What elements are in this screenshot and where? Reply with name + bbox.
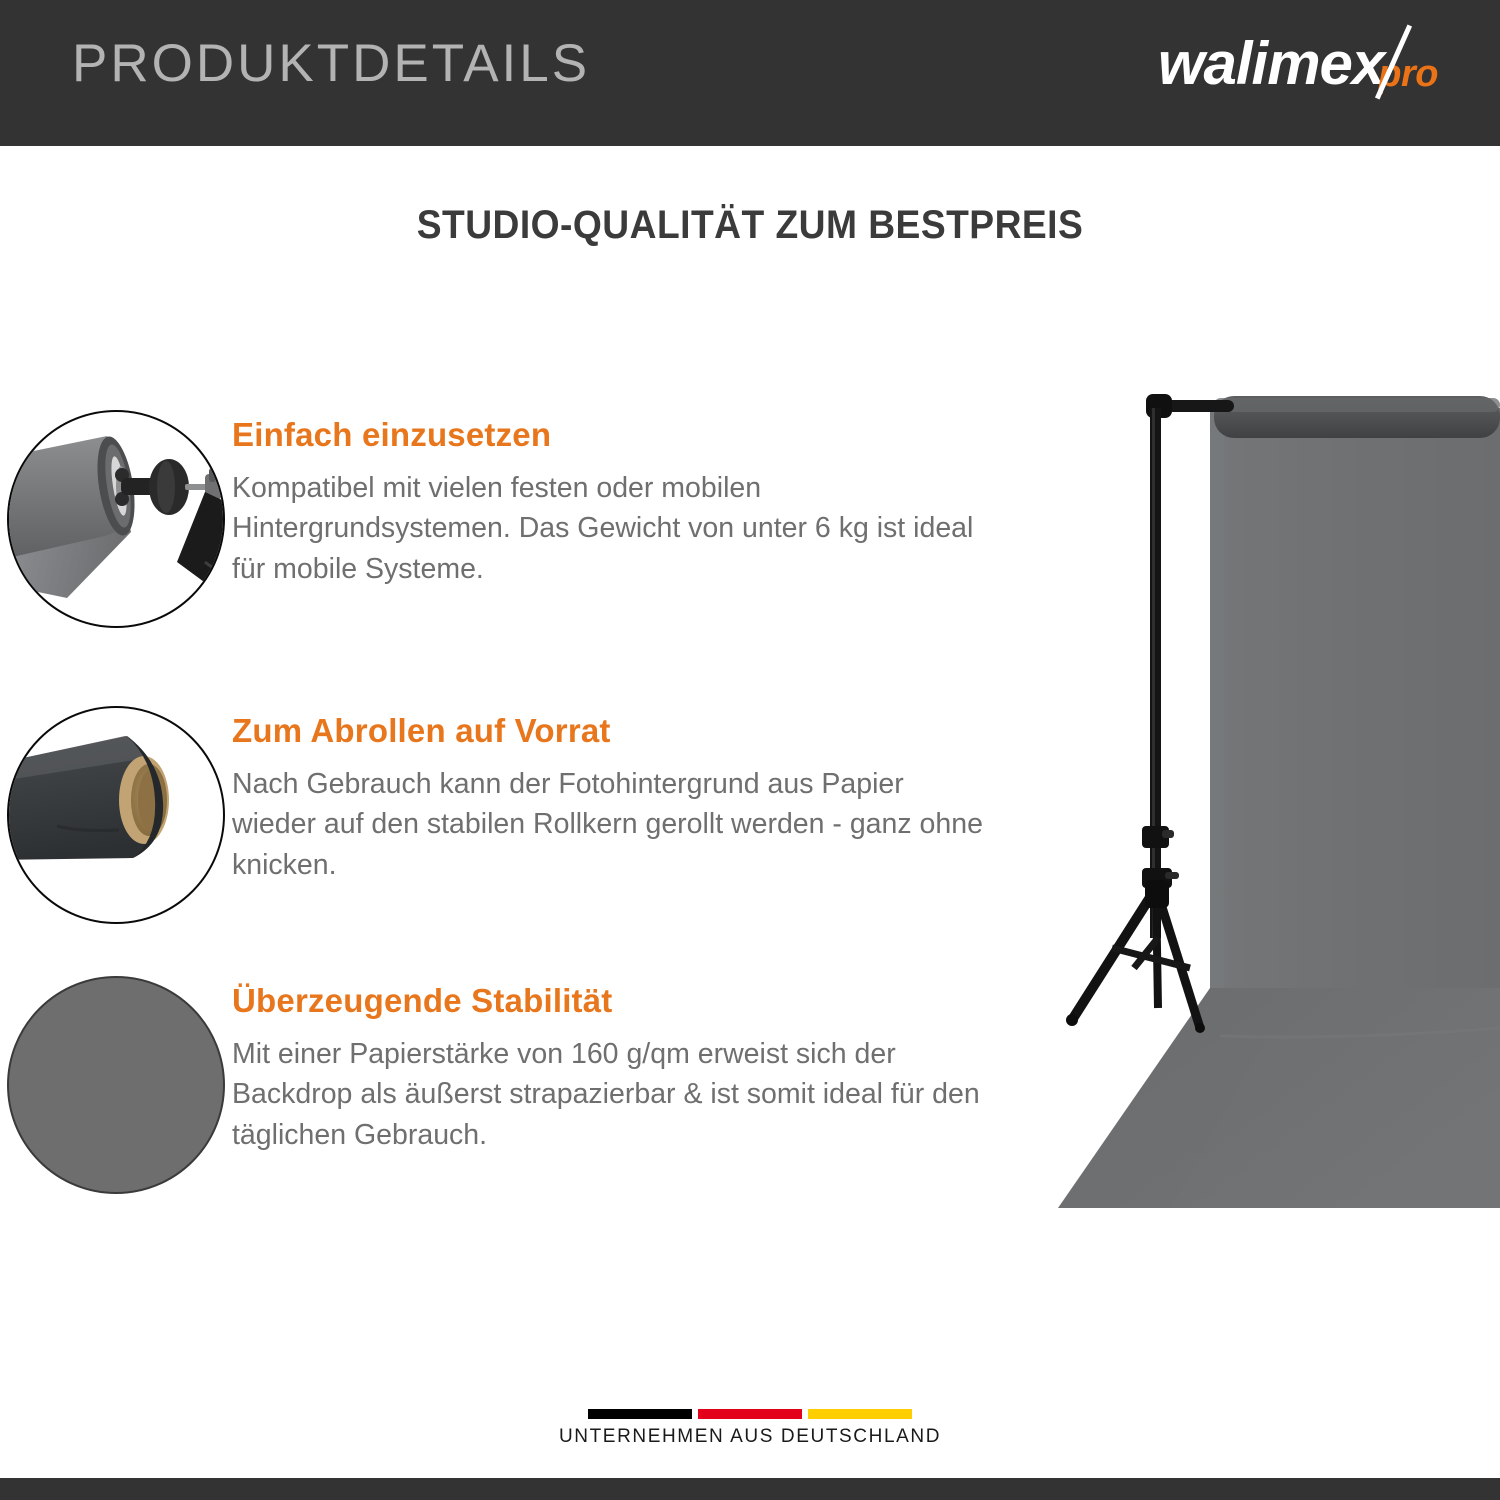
feature-text: Überzeugende Stabilität Mit einer Papier… xyxy=(232,976,992,1155)
feature-list: Einfach einzusetzen Kompatibel mit viele… xyxy=(0,400,1080,1194)
feature-icon-wrap xyxy=(0,410,232,628)
feature-item: Überzeugende Stabilität Mit einer Papier… xyxy=(0,976,1080,1194)
footer-bar xyxy=(0,1478,1500,1500)
flag-bar-red xyxy=(698,1409,802,1419)
feature-heading: Zum Abrollen auf Vorrat xyxy=(232,712,992,750)
feature-item: Zum Abrollen auf Vorrat Nach Gebrauch ka… xyxy=(0,706,1080,924)
feature-heading: Einfach einzusetzen xyxy=(232,416,992,454)
feature-body: Mit einer Papierstärke von 160 g/qm erwe… xyxy=(232,1034,992,1155)
logo-wordmark: walimex xyxy=(1158,34,1384,94)
feature-body: Kompatibel mit vielen festen oder mobile… xyxy=(232,468,992,589)
walimex-pro-logo: walimex pro xyxy=(1158,34,1438,106)
header-bar: PRODUKTDETAILS walimex pro xyxy=(0,0,1500,146)
grey-color-swatch-icon xyxy=(7,976,225,1194)
backdrop-support-stand-with-grey-paper-backdrop xyxy=(1050,368,1500,1218)
paper-roll-with-spindle-knob-icon xyxy=(7,410,225,628)
feature-icon-wrap xyxy=(0,706,232,924)
feature-body: Nach Gebrauch kann der Fotohintergrund a… xyxy=(232,764,992,885)
feature-item: Einfach einzusetzen Kompatibel mit viele… xyxy=(0,410,1080,628)
rolled-paper-cardboard-core-icon xyxy=(7,706,225,924)
german-flag-icon xyxy=(588,1409,912,1419)
badge-label: UNTERNEHMEN AUS DEUTSCHLAND xyxy=(559,1426,941,1448)
page-title: PRODUKTDETAILS xyxy=(72,37,590,90)
feature-text: Zum Abrollen auf Vorrat Nach Gebrauch ka… xyxy=(232,706,992,885)
flag-bar-black xyxy=(588,1409,692,1419)
feature-heading: Überzeugende Stabilität xyxy=(232,982,992,1020)
feature-text: Einfach einzusetzen Kompatibel mit viele… xyxy=(232,410,992,589)
flag-bar-gold xyxy=(808,1409,912,1419)
made-in-germany-badge: UNTERNEHMEN AUS DEUTSCHLAND xyxy=(0,1409,1500,1448)
feature-icon-wrap xyxy=(0,976,232,1194)
main-headline: STUDIO-QUALITÄT ZUM BESTPREIS xyxy=(53,203,1448,248)
